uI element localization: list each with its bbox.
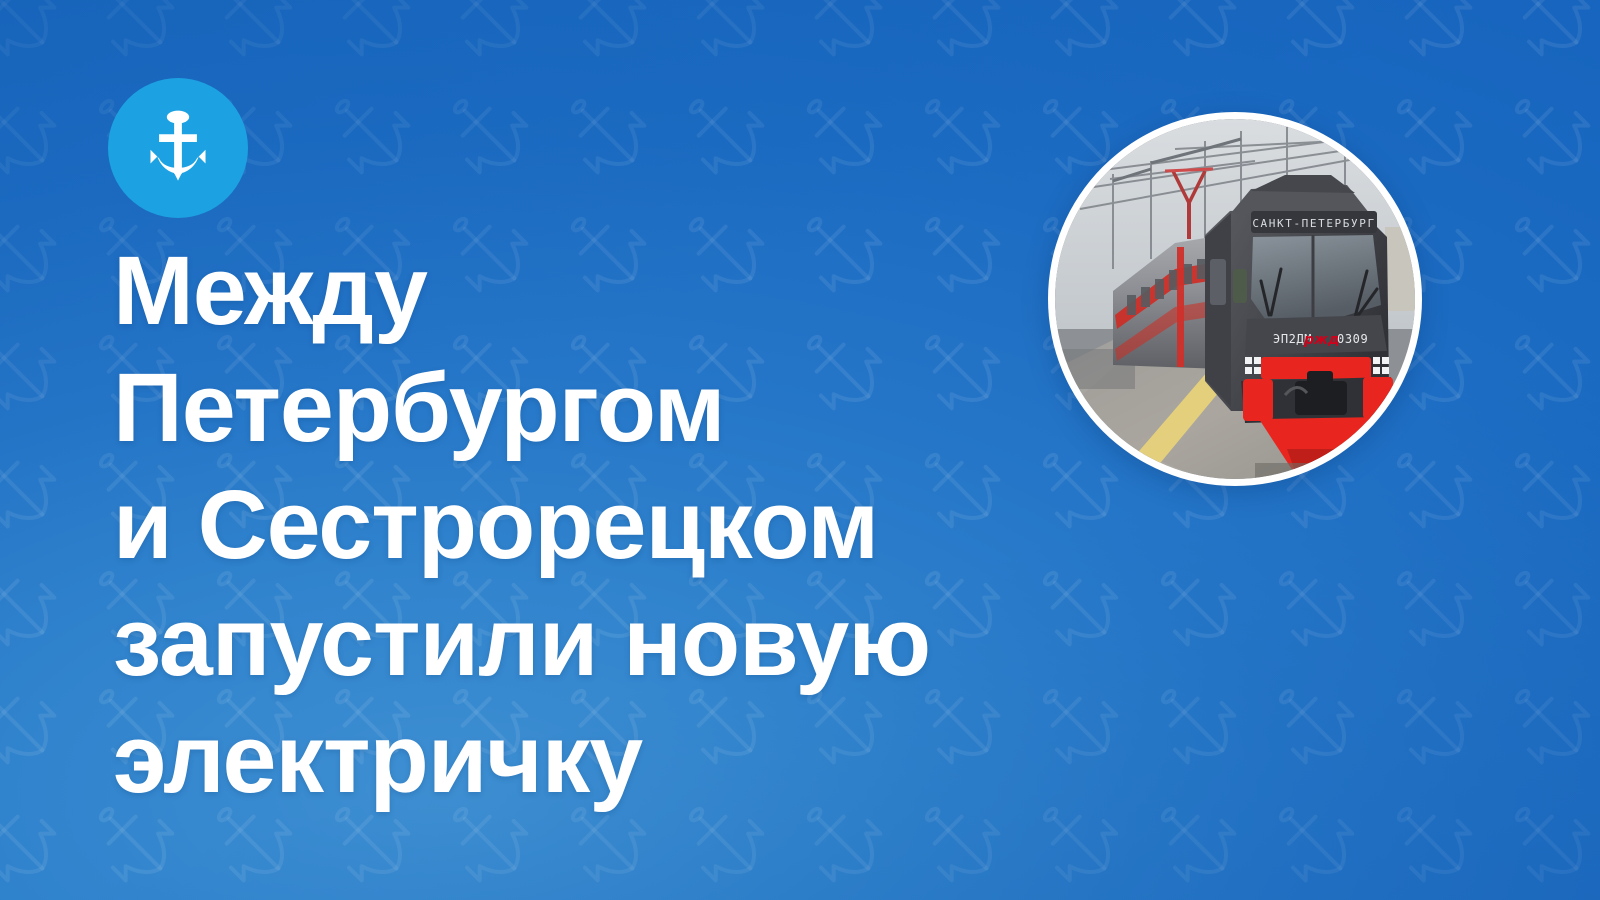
headline-line-2: Петербургом — [113, 349, 1093, 466]
anchor-icon — [135, 105, 221, 191]
headline-line-4: запустили новую — [113, 583, 1093, 700]
svg-text:ржд: ржд — [1303, 332, 1339, 348]
news-card: Между Петербургом и Сестрорецком запусти… — [0, 0, 1600, 900]
brand-logo[interactable] — [108, 78, 248, 218]
train-photo-ring: САНКТ-ПЕТЕРБУРГ ЭП2ДМ 0309 — [1048, 112, 1422, 486]
svg-text:0309: 0309 — [1337, 332, 1368, 346]
train-photo: САНКТ-ПЕТЕРБУРГ ЭП2ДМ 0309 — [1055, 119, 1415, 479]
headline-line-5: электричку — [113, 700, 1093, 817]
headline: Между Петербургом и Сестрорецком запусти… — [113, 232, 1093, 817]
headline-line-3: и Сестрорецком — [113, 466, 1093, 583]
svg-text:САНКТ-ПЕТЕРБУРГ: САНКТ-ПЕТЕРБУРГ — [1252, 217, 1375, 230]
headline-line-1: Между — [113, 232, 1093, 349]
